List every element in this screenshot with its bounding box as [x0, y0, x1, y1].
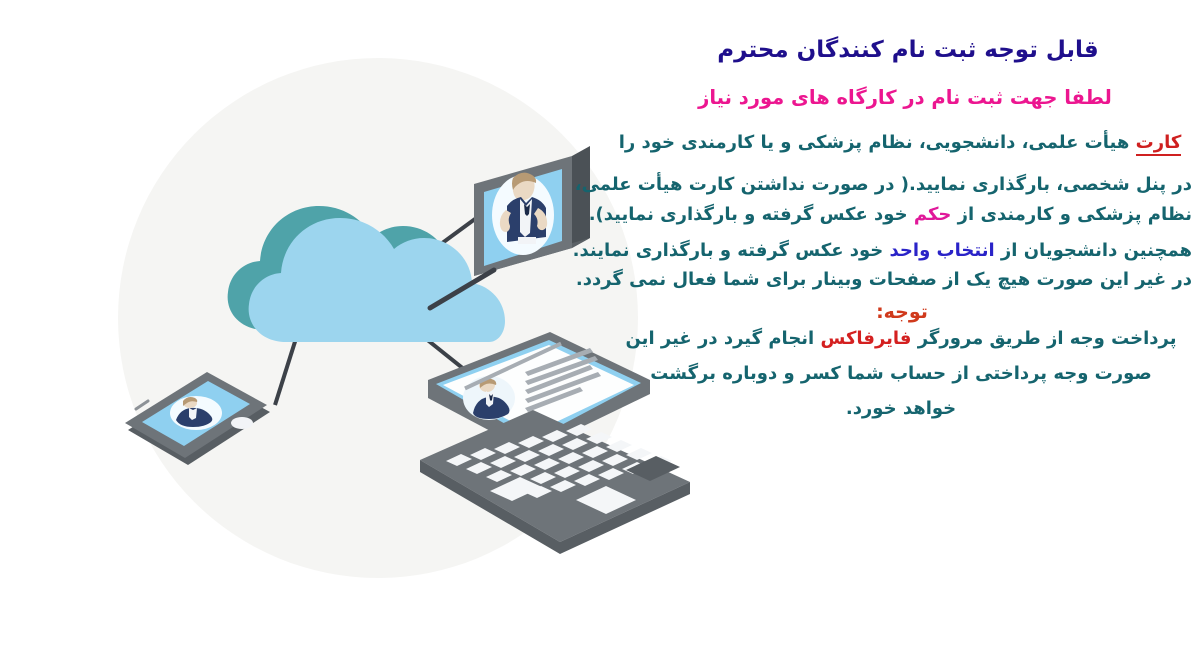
notice-line-2: صورت وجه پرداختی از حساب شما کسر و دوبار…: [588, 360, 1192, 387]
heading-primary: قابل توجه ثبت نام کنندگان محترم: [588, 34, 1192, 68]
paragraph-3-line-1-a: همچنین دانشجویان از: [995, 240, 1192, 261]
notice-line-3: خواهد خورد.: [588, 395, 1192, 422]
notice-line-1: پرداخت وجه از طریق مرورگر فایرفاکس انجام…: [588, 325, 1192, 352]
paragraph-2-line-2: نظام پزشکی و کارمندی از حکم خود عکس گرفت…: [588, 202, 1192, 228]
keyword-entekhab-vahed: انتخاب واحد: [890, 240, 995, 261]
paragraph-2-line-1: در پنل شخصی، بارگذاری نمایید.( در صورت ن…: [588, 172, 1192, 198]
keyword-firefox: فایرفاکس: [821, 328, 912, 349]
paragraph-3-line-1: همچنین دانشجویان از انتخاب واحد خود عکس …: [588, 238, 1192, 264]
heading-secondary: لطفا جهت ثبت نام در کارگاه های مورد نیاز: [588, 84, 1192, 112]
smartphone-speaker: [136, 401, 148, 409]
paragraph-2-line-2-b: خود عکس گرفته و بارگذاری نمایید).: [589, 204, 914, 225]
keyword-hokm: حکم: [914, 204, 952, 225]
announcement-text-column: قابل توجه ثبت نام کنندگان محترم لطفا جهت…: [588, 34, 1192, 422]
infographic-page: قابل توجه ثبت نام کنندگان محترم لطفا جهت…: [0, 0, 1200, 650]
smartphone-home-button[interactable]: [231, 417, 253, 429]
notice-label: توجه:: [588, 301, 1192, 323]
paragraph-1: کارت هیأت علمی، دانشجویی، نظام پزشکی و ی…: [588, 130, 1192, 156]
notice-line-1-a: پرداخت وجه از طریق مرورگر: [911, 328, 1176, 349]
paragraph-1-rest: هیأت علمی، دانشجویی، نظام پزشکی و یا کار…: [619, 132, 1136, 153]
paragraph-3-line-1-b: خود عکس گرفته و بارگذاری نمایند.: [573, 240, 890, 261]
paragraph-2-line-2-a: نظام پزشکی و کارمندی از: [951, 204, 1192, 225]
keyword-card: کارت: [1136, 132, 1182, 156]
smartphone-device: [125, 372, 270, 465]
notice-line-1-b: انجام گیرد در غیر این: [625, 328, 820, 349]
paragraph-3-line-2: در غیر این صورت هیچ یک از صفحات وبینار ب…: [588, 267, 1192, 293]
